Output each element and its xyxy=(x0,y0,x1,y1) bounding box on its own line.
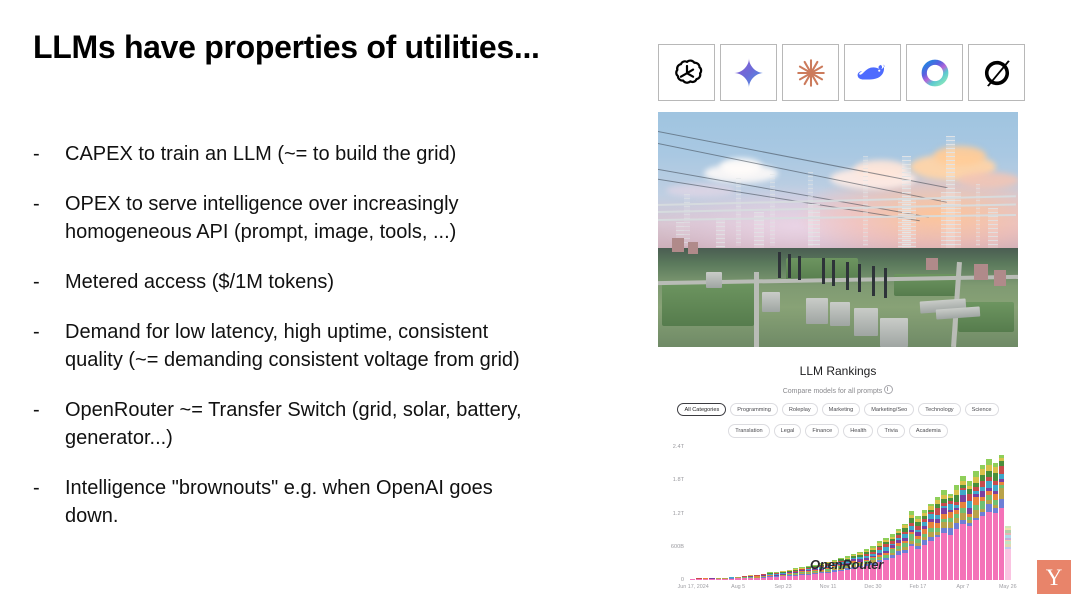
chart-bar[interactable] xyxy=(954,485,959,580)
category-chip-science[interactable]: Science xyxy=(965,403,999,416)
chart-bar-segment xyxy=(980,501,985,509)
power-substation-photo xyxy=(658,112,1018,347)
slide-right-column: LLM Rankings Compare models for all prom… xyxy=(648,0,1080,608)
bullet-text: CAPEX to train an LLM (~= to build the g… xyxy=(65,140,633,168)
chart-bar[interactable] xyxy=(748,574,753,580)
chart-bar[interactable] xyxy=(729,575,734,580)
copilot-ring-logo-icon xyxy=(918,56,952,90)
bullet-item: -OpenRouter ~= Transfer Switch (grid, so… xyxy=(33,396,633,452)
chart-bar[interactable] xyxy=(870,546,875,580)
chart-bar-segment xyxy=(986,512,991,580)
chart-bar-segment xyxy=(851,569,856,580)
chart-bar-segment xyxy=(993,494,998,501)
chart-bar-segment xyxy=(960,524,965,580)
chart-bar[interactable] xyxy=(703,577,708,580)
category-chip-row-primary: All CategoriesProgrammingRoleplayMarketi… xyxy=(658,403,1018,416)
chart-bar[interactable] xyxy=(780,570,785,580)
grok-logo-icon xyxy=(980,56,1014,90)
chart-title: LLM Rankings xyxy=(658,364,1018,378)
chart-bar-segment xyxy=(954,523,959,530)
cloud xyxy=(958,172,1018,188)
chart-bar-segment xyxy=(896,555,901,580)
chart-bar-segment xyxy=(864,566,869,580)
deepseek-whale-logo-icon xyxy=(856,56,890,90)
chart-bar-segment xyxy=(980,516,985,580)
chart-bar-segment xyxy=(729,579,734,580)
claude-logo-icon xyxy=(794,56,828,90)
substation-equipment xyxy=(854,308,878,336)
y-combinator-badge: Y xyxy=(1037,560,1071,594)
bullet-text: Metered access ($/1M tokens) xyxy=(65,268,633,296)
category-chip-roleplay[interactable]: Roleplay xyxy=(782,403,818,416)
service-road xyxy=(754,272,759,347)
category-chip-finance[interactable]: Finance xyxy=(805,424,839,437)
chart-bar-segment xyxy=(870,565,875,580)
chart-bar[interactable] xyxy=(973,471,978,580)
chart-bar[interactable] xyxy=(690,577,695,580)
chart-bar-segment xyxy=(742,578,747,580)
chart-bar-segment xyxy=(883,560,888,580)
bullet-text: OPEX to serve intelligence over increasi… xyxy=(65,190,633,246)
chart-bars xyxy=(690,439,1011,580)
category-chip-row-secondary: TranslationLegalFinanceHealthTriviaAcade… xyxy=(658,424,1018,437)
x-axis-tick-label: Jun 17, 2024 xyxy=(678,584,709,590)
chart-bar[interactable] xyxy=(716,576,721,580)
x-axis-tick-label: May 26 xyxy=(999,584,1017,590)
substation-equipment xyxy=(672,238,684,252)
chart-bar[interactable] xyxy=(980,465,985,580)
substation-equipment xyxy=(688,242,698,254)
openai-logo-tile xyxy=(658,44,715,101)
chart-bar[interactable] xyxy=(896,528,901,580)
substation-equipment xyxy=(798,256,801,280)
chart-bar[interactable] xyxy=(915,516,920,580)
chart-bar-segment xyxy=(967,501,972,508)
bullet-marker: - xyxy=(33,190,65,218)
chart-bar[interactable] xyxy=(986,459,991,580)
substation-equipment xyxy=(872,266,875,296)
x-axis-tick-label: Sep 23 xyxy=(775,584,792,590)
chart-bar[interactable] xyxy=(845,556,850,580)
chart-bar[interactable] xyxy=(812,565,817,580)
bullet-list: -CAPEX to train an LLM (~= to build the … xyxy=(33,140,633,552)
gemini-logo-icon xyxy=(732,56,766,90)
openai-logo-icon xyxy=(670,56,704,90)
substation-equipment xyxy=(832,260,835,286)
chart-bar[interactable] xyxy=(735,575,740,580)
substation-equipment xyxy=(762,292,780,312)
y-axis-tick-label: 1.8T xyxy=(658,477,684,483)
chart-bar[interactable] xyxy=(967,481,972,580)
chart-bar-segment xyxy=(825,573,830,580)
chart-bar[interactable] xyxy=(722,576,727,580)
chart-bar[interactable] xyxy=(993,463,998,580)
chart-plot-area: 0600B1.2T1.8T2.4T OpenRouter Jun 17, 202… xyxy=(658,439,1018,602)
chart-bar[interactable] xyxy=(709,576,714,580)
bullet-marker: - xyxy=(33,474,65,502)
chart-bar-segment xyxy=(761,578,766,581)
chart-bar-segment xyxy=(915,549,920,581)
category-chip-legal[interactable]: Legal xyxy=(774,424,802,437)
chart-bar-segment xyxy=(857,567,862,580)
chart-bar[interactable] xyxy=(742,575,747,580)
chart-bar-segment xyxy=(973,520,978,580)
chart-bar[interactable] xyxy=(799,567,804,580)
chart-bar-segment xyxy=(774,577,779,580)
chart-bar[interactable] xyxy=(857,551,862,580)
ai-model-logo-strip xyxy=(658,44,1025,101)
substation-equipment xyxy=(974,264,988,280)
chart-bar-segment xyxy=(954,529,959,580)
chart-bar[interactable] xyxy=(909,511,914,580)
chart-bar-segment xyxy=(954,495,959,502)
bullet-item: -Metered access ($/1M tokens) xyxy=(33,268,633,296)
category-chip-academia[interactable]: Academia xyxy=(909,424,948,437)
substation-equipment xyxy=(994,270,1006,286)
chart-bar-segment xyxy=(935,537,940,580)
substation-equipment xyxy=(880,318,908,347)
substation-equipment xyxy=(926,258,938,270)
chart-bar-segment xyxy=(999,466,1004,474)
chart-bar-segment xyxy=(767,577,772,580)
category-chip-programming[interactable]: Programming xyxy=(730,403,778,416)
chart-bar-segment xyxy=(922,545,927,580)
category-chip-technology[interactable]: Technology xyxy=(918,403,960,416)
chart-bar-segment xyxy=(793,576,798,580)
chart-bar-segment xyxy=(967,526,972,580)
chart-bar[interactable] xyxy=(774,571,779,580)
category-chip-marketing[interactable]: Marketing xyxy=(822,403,861,416)
chart-bar-segment xyxy=(973,497,978,505)
chart-bar-segment xyxy=(890,558,895,580)
chart-bar-segment xyxy=(716,579,721,580)
chart-bar[interactable] xyxy=(928,504,933,580)
y-axis-tick-label: 600B xyxy=(658,544,684,550)
chart-bar-segment xyxy=(993,473,998,481)
substation-equipment xyxy=(830,302,850,326)
chart-bar-segment xyxy=(696,579,701,580)
chart-bar-segment xyxy=(787,576,792,580)
x-axis-labels: Jun 17, 2024Aug 5Sep 23Nov 11Dec 30Feb 1… xyxy=(690,584,1011,598)
chart-bar[interactable] xyxy=(754,573,759,580)
bullet-marker: - xyxy=(33,396,65,424)
category-chip-marketing-seo[interactable]: Marketing/Seo xyxy=(864,403,914,416)
chart-bar[interactable] xyxy=(890,533,895,580)
claude-logo-tile xyxy=(782,44,839,101)
chart-subtitle: Compare models for all prompts xyxy=(658,384,1018,395)
chart-bar-segment xyxy=(832,572,837,580)
x-axis-tick-label: Apr 7 xyxy=(956,584,969,590)
chart-bar[interactable] xyxy=(806,566,811,580)
chart-bar-segment xyxy=(838,571,843,580)
transmission-tower xyxy=(863,156,868,246)
page-title: LLMs have properties of utilities... xyxy=(33,29,633,66)
substation-equipment xyxy=(788,254,791,278)
substation-equipment xyxy=(706,272,722,288)
grok-logo-tile xyxy=(968,44,1025,101)
chart-bar[interactable] xyxy=(941,490,946,580)
chart-bar-segment xyxy=(722,579,727,580)
chart-bar[interactable] xyxy=(793,568,798,580)
bullet-marker: - xyxy=(33,268,65,296)
chart-bar-segment xyxy=(877,562,882,580)
chart-bar-segment xyxy=(967,494,972,501)
category-chip-health[interactable]: Health xyxy=(843,424,873,437)
chart-bar-segment xyxy=(902,553,907,580)
category-chip-all-categories[interactable]: All Categories xyxy=(677,403,726,416)
chart-bar-segment xyxy=(999,508,1004,580)
substation-equipment xyxy=(846,262,849,290)
x-axis-tick-label: Feb 17 xyxy=(910,584,927,590)
chart-bar[interactable] xyxy=(883,538,888,580)
chart-bar[interactable] xyxy=(832,560,837,580)
gemini-logo-tile xyxy=(720,44,777,101)
chart-bar-segment xyxy=(709,579,714,580)
bullet-marker: - xyxy=(33,140,65,168)
cloud xyxy=(934,146,986,166)
x-axis-tick-label: Nov 11 xyxy=(820,584,837,590)
chart-bar-segment xyxy=(986,481,991,488)
category-chip-trivia[interactable]: Trivia xyxy=(877,424,904,437)
chart-bar-segment xyxy=(780,576,785,580)
bullet-marker: - xyxy=(33,318,65,346)
deepseek-logo-tile xyxy=(844,44,901,101)
bullet-text: Demand for low latency, high uptime, con… xyxy=(65,318,633,374)
chart-bar[interactable] xyxy=(851,554,856,580)
chart-bar[interactable] xyxy=(922,510,927,580)
chart-bar-segment xyxy=(819,573,824,580)
chart-bar[interactable] xyxy=(902,523,907,580)
chart-bar[interactable] xyxy=(825,562,830,580)
chart-bar[interactable] xyxy=(935,497,940,580)
chart-bar-segment xyxy=(973,510,978,518)
chart-bar-segment xyxy=(948,535,953,580)
chart-bar[interactable] xyxy=(948,494,953,580)
bullet-item: -Demand for low latency, high uptime, co… xyxy=(33,318,633,374)
chart-bar[interactable] xyxy=(960,476,965,580)
chart-bar[interactable] xyxy=(999,455,1004,580)
chart-bar[interactable] xyxy=(877,541,882,580)
chart-bar-segment xyxy=(1005,549,1010,580)
chart-bar[interactable] xyxy=(761,573,766,580)
chart-bar-segment xyxy=(735,578,740,580)
bullet-item: -CAPEX to train an LLM (~= to build the … xyxy=(33,140,633,168)
bullet-text: Intelligence "brownouts" e.g. when OpenA… xyxy=(65,474,633,530)
chart-bar-segment xyxy=(909,546,914,580)
substation-equipment xyxy=(806,298,828,324)
info-icon[interactable] xyxy=(884,385,893,394)
y-axis-tick-label: 0 xyxy=(658,577,684,583)
chart-bar-segment xyxy=(748,578,753,580)
y-axis-tick-label: 2.4T xyxy=(658,444,684,450)
chart-bar-segment xyxy=(812,574,817,580)
chart-bar-segment xyxy=(845,570,850,580)
chart-bar[interactable] xyxy=(787,569,792,580)
chart-bar-segment xyxy=(703,579,708,580)
chart-subtitle-text: Compare models for all prompts xyxy=(783,388,883,395)
chart-bar-segment xyxy=(690,579,695,580)
chart-bar-segment xyxy=(928,541,933,580)
copilot-logo-tile xyxy=(906,44,963,101)
chart-bar-segment xyxy=(806,575,811,580)
substation-equipment xyxy=(822,258,825,284)
transmission-tower xyxy=(736,178,741,246)
x-axis-tick-label: Aug 5 xyxy=(731,584,745,590)
llm-rankings-chart-card: LLM Rankings Compare models for all prom… xyxy=(658,357,1018,602)
chart-bar-segment xyxy=(986,504,991,512)
chart-bar[interactable] xyxy=(767,572,772,580)
chart-bar-segment xyxy=(754,578,759,580)
chart-bar[interactable] xyxy=(696,577,701,580)
chart-bar-segment xyxy=(999,499,1004,508)
category-chip-translation[interactable]: Translation xyxy=(728,424,769,437)
chart-bar[interactable] xyxy=(819,563,824,580)
y-axis-tick-label: 1.2T xyxy=(658,511,684,517)
chart-bar[interactable] xyxy=(838,558,843,580)
chart-bar-segment xyxy=(941,533,946,580)
bullet-item: -OPEX to serve intelligence over increas… xyxy=(33,190,633,246)
substation-equipment xyxy=(884,268,887,298)
bullet-text: OpenRouter ~= Transfer Switch (grid, sol… xyxy=(65,396,633,452)
x-axis-tick-label: Dec 30 xyxy=(864,584,881,590)
substation-equipment xyxy=(858,264,861,292)
chart-bar-segment xyxy=(999,488,1004,499)
substation-equipment xyxy=(778,252,781,278)
slide-left-column: LLMs have properties of utilities... -CA… xyxy=(0,0,648,608)
chart-bar[interactable] xyxy=(1005,526,1010,580)
chart-bar[interactable] xyxy=(864,549,869,580)
bullet-item: -Intelligence "brownouts" e.g. when Open… xyxy=(33,474,633,530)
chart-bar-segment xyxy=(799,575,804,580)
chart-bar-segment xyxy=(993,513,998,580)
grass-field xyxy=(662,282,754,326)
